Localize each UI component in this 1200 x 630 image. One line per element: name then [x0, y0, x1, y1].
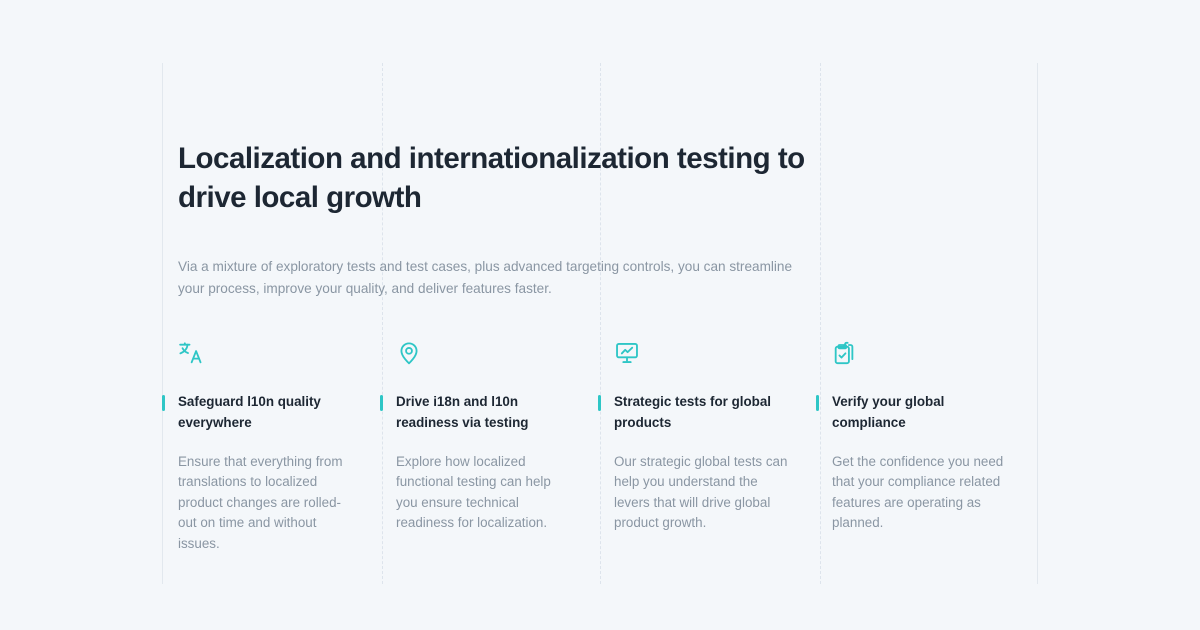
feature-card-strategic-tests: Strategic tests for global products Our … [614, 340, 832, 554]
feature-heading-text: Strategic tests for global products [614, 394, 771, 430]
section-subtitle: Via a mixture of exploratory tests and t… [178, 256, 806, 299]
page-stage: Localization and internationalization te… [0, 0, 1200, 630]
feature-heading: Safeguard l10n quality everywhere [178, 392, 354, 433]
feature-list: Safeguard l10n quality everywhere Ensure… [178, 340, 1038, 554]
page-title: Localization and internationalization te… [178, 139, 818, 217]
map-pin-icon [396, 340, 572, 366]
feature-body: Our strategic global tests can help you … [614, 452, 790, 534]
accent-bar [162, 395, 165, 411]
feature-heading: Strategic tests for global products [614, 392, 790, 433]
feature-heading-text: Safeguard l10n quality everywhere [178, 394, 321, 430]
accent-bar [380, 395, 383, 411]
feature-heading: Drive i18n and l10n readiness via testin… [396, 392, 572, 433]
feature-card-drive-i18n-readiness: Drive i18n and l10n readiness via testin… [396, 340, 614, 554]
feature-card-verify-compliance: Verify your global compliance Get the co… [832, 340, 1050, 554]
section-content: Localization and internationalization te… [178, 63, 1038, 554]
accent-bar [816, 395, 819, 411]
feature-card-safeguard-l10n-quality: Safeguard l10n quality everywhere Ensure… [178, 340, 396, 554]
presentation-chart-icon [614, 340, 790, 366]
feature-heading-text: Drive i18n and l10n readiness via testin… [396, 394, 528, 430]
feature-body: Get the confidence you need that your co… [832, 452, 1008, 534]
accent-bar [598, 395, 601, 411]
translate-icon [178, 340, 354, 366]
feature-body: Ensure that everything from translations… [178, 452, 354, 554]
feature-heading-text: Verify your global compliance [832, 394, 944, 430]
feature-heading: Verify your global compliance [832, 392, 1008, 433]
feature-body: Explore how localized functional testing… [396, 452, 572, 534]
clipboard-check-icon [832, 340, 1008, 366]
